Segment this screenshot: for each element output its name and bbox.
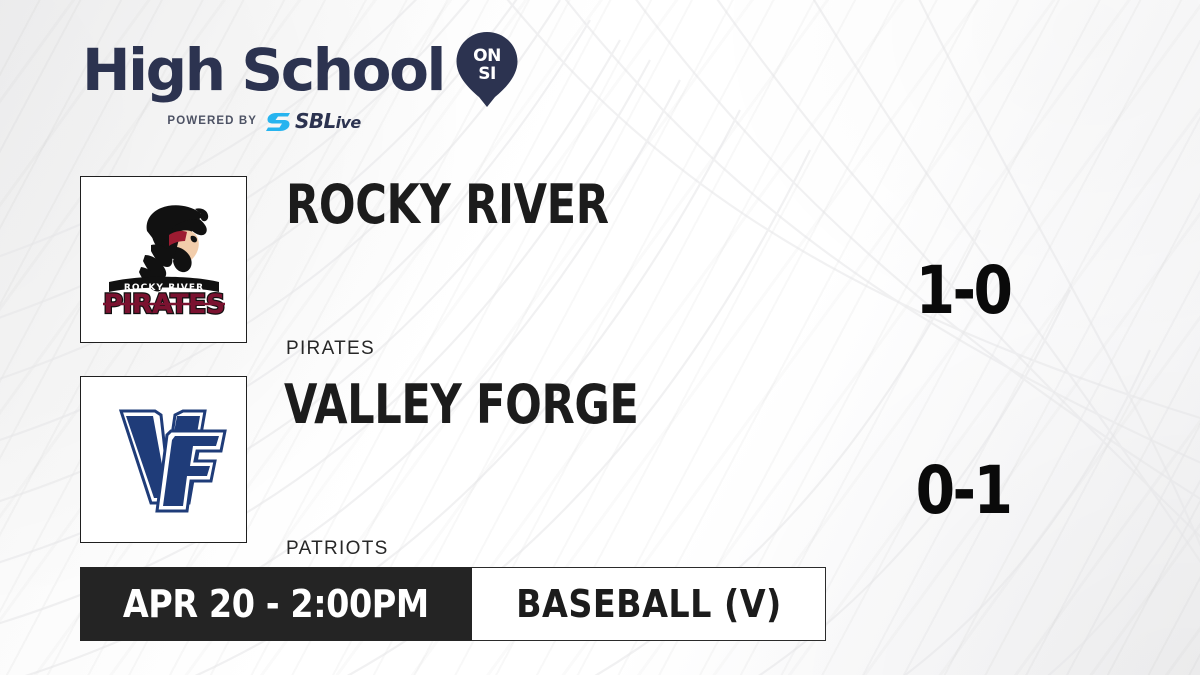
brand-logo: High School ON SI POWERED BY SBLive <box>82 36 512 130</box>
game-sport-text: BASEBALL (V) <box>516 585 782 623</box>
away-team-record: 0-1 <box>873 458 1054 524</box>
home-team-record: 1-0 <box>873 258 1054 324</box>
game-info-bar: APR 20 - 2:00PM BASEBALL (V) <box>80 567 826 641</box>
game-sport-panel: BASEBALL (V) <box>472 567 827 641</box>
game-datetime-panel: APR 20 - 2:00PM <box>80 567 472 641</box>
home-team-name: ROCKY RIVER <box>286 178 609 232</box>
sblive-lower: ive <box>336 113 361 132</box>
valley-forge-vf-monogram-logo-icon <box>89 385 239 535</box>
away-team-name: VALLEY FORGE <box>284 378 639 432</box>
brand-title-row: High School ON SI <box>82 36 512 104</box>
sblive-logo: SBLive <box>266 111 361 132</box>
away-team-mascot: PATRIOTS <box>286 538 389 560</box>
home-team-mascot: PIRATES <box>286 338 375 360</box>
sblive-wordmark: SBLive <box>295 111 361 131</box>
rocky-river-pirates-logo-icon: ROCKY RIVER PIRATES <box>89 185 239 335</box>
powered-by-label: POWERED BY <box>167 115 257 127</box>
powered-by-row: POWERED BY SBLive <box>82 112 512 130</box>
matchup-graphic: High School ON SI POWERED BY SBLive <box>0 0 1200 675</box>
game-datetime-text: APR 20 - 2:00PM <box>123 585 429 623</box>
brand-title: High School <box>82 41 444 99</box>
on-si-pin-icon: ON SI <box>455 31 519 109</box>
home-team-logo-box: ROCKY RIVER PIRATES <box>80 176 247 343</box>
svg-text:SI: SI <box>478 64 496 84</box>
sblive-upper: SBL <box>295 109 336 133</box>
away-team-logo-box <box>80 376 247 543</box>
svg-text:ON: ON <box>473 46 501 66</box>
sblive-s-mark-icon <box>266 111 292 132</box>
